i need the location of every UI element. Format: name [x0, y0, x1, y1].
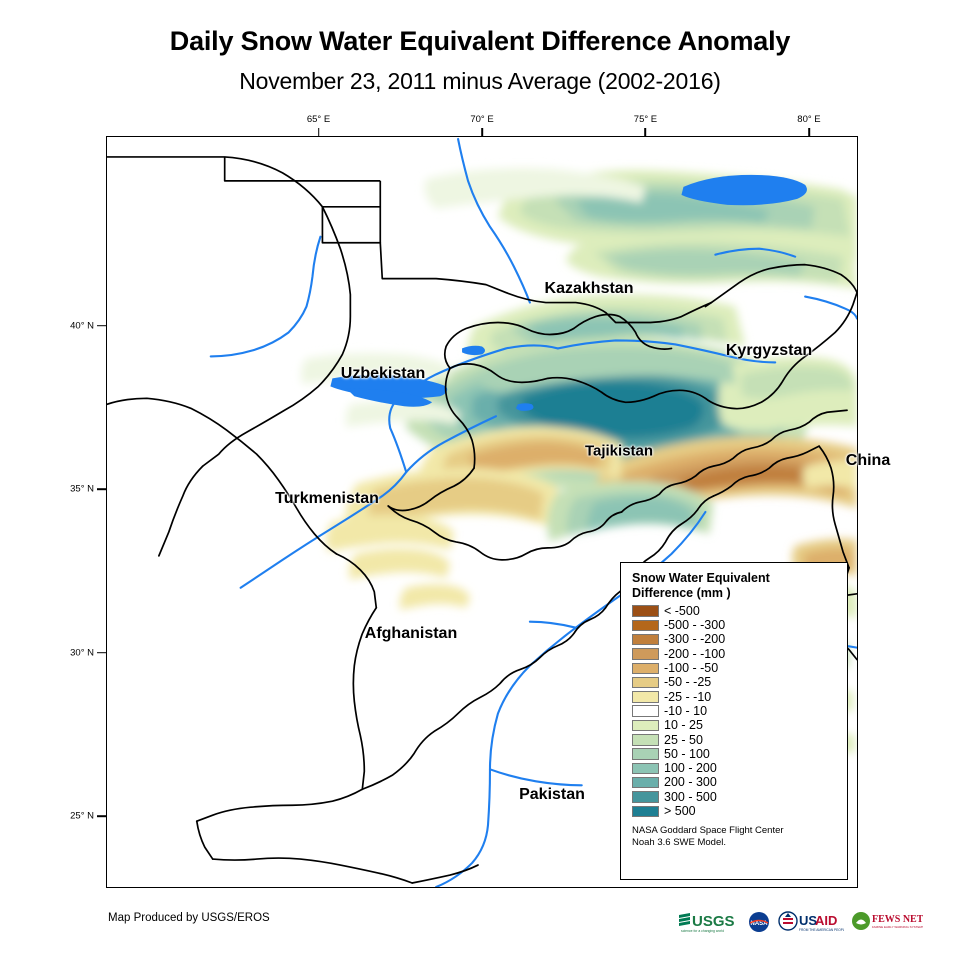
legend-label: -200 - -100 — [664, 648, 725, 661]
legend-swatch — [632, 748, 659, 760]
lat-tick-mark-2 — [97, 652, 106, 654]
legend-footnote: NASA Goddard Space Flight Center Noah 3.… — [632, 825, 838, 848]
legend-label: -500 - -300 — [664, 619, 725, 632]
legend-swatch — [632, 605, 659, 617]
lat-tick-label-1: 35° N — [52, 484, 94, 495]
legend-label: -300 - -200 — [664, 633, 725, 646]
legend-label: 50 - 100 — [664, 748, 710, 761]
legend-swatch — [632, 663, 659, 675]
legend-row: > 500 — [632, 804, 838, 818]
legend-row: 25 - 50 — [632, 733, 838, 747]
legend-label: 100 - 200 — [664, 762, 717, 775]
lat-tick-label-2: 30° N — [52, 647, 94, 658]
legend-row: 100 - 200 — [632, 761, 838, 775]
map-credit: Map Produced by USGS/EROS — [108, 912, 270, 924]
legend-swatch — [632, 806, 659, 818]
page-subtitle: November 23, 2011 minus Average (2002-20… — [0, 68, 960, 95]
legend-swatch — [632, 705, 659, 717]
fewsnet-logo: FEWS NET FAMINE EARLY WARNING SYSTEMS NE… — [851, 911, 923, 933]
legend-row: -200 - -100 — [632, 647, 838, 661]
lon-tick-label-1: 70° E — [470, 114, 493, 125]
legend-title: Snow Water Equivalent Difference (mm ) — [632, 571, 838, 600]
legend-row: -500 - -300 — [632, 618, 838, 632]
legend-label: 25 - 50 — [664, 734, 703, 747]
legend-row: 10 - 25 — [632, 718, 838, 732]
legend-swatch — [632, 734, 659, 746]
legend-row: < -500 — [632, 604, 838, 618]
lat-tick-label-0: 40° N — [52, 320, 94, 331]
agency-logos: USGS science for a changing world NASA U… — [678, 908, 923, 936]
legend-label: -25 - -10 — [664, 691, 711, 704]
legend-label: 10 - 25 — [664, 719, 703, 732]
legend-label: < -500 — [664, 605, 700, 618]
legend-row: -300 - -200 — [632, 633, 838, 647]
page-title: Daily Snow Water Equivalent Difference A… — [0, 26, 960, 57]
svg-text:USGS: USGS — [692, 913, 735, 930]
map-page: Daily Snow Water Equivalent Difference A… — [0, 0, 960, 960]
legend-swatch — [632, 791, 659, 803]
legend-label: -10 - 10 — [664, 705, 707, 718]
lat-tick-mark-1 — [97, 488, 106, 490]
lon-tick-label-3: 80° E — [797, 114, 820, 125]
legend-swatch — [632, 763, 659, 775]
legend-row: -100 - -50 — [632, 661, 838, 675]
legend-footnote-line2: Noah 3.6 SWE Model. — [632, 837, 838, 849]
lat-tick-label-3: 25° N — [52, 811, 94, 822]
legend-row: -10 - 10 — [632, 704, 838, 718]
legend-row: 200 - 300 — [632, 776, 838, 790]
svg-text:FROM THE AMERICAN PEOPLE: FROM THE AMERICAN PEOPLE — [799, 928, 844, 932]
svg-text:science for a changing world: science for a changing world — [681, 929, 724, 933]
lon-tick-label-0: 65° E — [307, 114, 330, 125]
legend-row: -50 - -25 — [632, 675, 838, 689]
legend-row: 300 - 500 — [632, 790, 838, 804]
legend-swatch — [632, 648, 659, 660]
legend-label: 200 - 300 — [664, 776, 717, 789]
map-legend[interactable]: Snow Water Equivalent Difference (mm ) <… — [620, 562, 848, 880]
legend-footnote-line1: NASA Goddard Space Flight Center — [632, 825, 838, 837]
nasa-logo: NASA — [747, 911, 771, 933]
legend-title-line2: Difference (mm ) — [632, 586, 838, 601]
legend-label: 300 - 500 — [664, 791, 717, 804]
legend-title-line1: Snow Water Equivalent — [632, 571, 838, 586]
svg-text:FEWS NET: FEWS NET — [872, 914, 923, 925]
legend-label: > 500 — [664, 805, 696, 818]
svg-text:AID: AID — [815, 913, 837, 928]
legend-entries: < -500-500 - -300-300 - -200-200 - -100-… — [632, 604, 838, 818]
lon-tick-label-2: 75° E — [634, 114, 657, 125]
lat-tick-mark-3 — [97, 815, 106, 817]
legend-swatch — [632, 677, 659, 689]
legend-label: -50 - -25 — [664, 676, 711, 689]
usgs-logo: USGS science for a changing world — [678, 911, 740, 933]
legend-label: -100 - -50 — [664, 662, 718, 675]
legend-swatch — [632, 620, 659, 632]
lat-tick-mark-0 — [97, 325, 106, 327]
legend-swatch — [632, 777, 659, 789]
legend-row: -25 - -10 — [632, 690, 838, 704]
usaid-logo: US AID FROM THE AMERICAN PEOPLE — [778, 911, 844, 933]
legend-row: 50 - 100 — [632, 747, 838, 761]
legend-swatch — [632, 634, 659, 646]
legend-swatch — [632, 691, 659, 703]
legend-swatch — [632, 720, 659, 732]
svg-text:FAMINE EARLY WARNING SYSTEMS N: FAMINE EARLY WARNING SYSTEMS NETWORK — [872, 925, 923, 929]
